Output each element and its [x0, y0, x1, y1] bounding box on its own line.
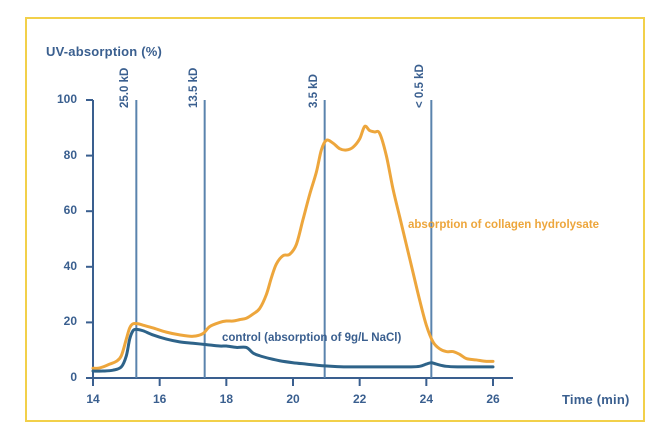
x-tick-label: 24 [406, 392, 446, 406]
y-axis-title: UV-absorption (%) [46, 44, 162, 59]
x-tick-label: 26 [473, 392, 513, 406]
marker-label-2: 3.5 kD [308, 74, 320, 108]
y-tick-label: 80 [45, 148, 77, 162]
series-label-control: control (absorption of 9g/L NaCl) [222, 332, 401, 344]
chart-figure: UV-absorption (%) Time (min) 02040608010… [0, 0, 662, 444]
x-tick-label: 16 [140, 392, 180, 406]
x-tick-label: 14 [73, 392, 113, 406]
x-tick-label: 22 [340, 392, 380, 406]
y-tick-label: 40 [45, 259, 77, 273]
series-label-collagen-hydrolysate: absorption of collagen hydrolysate [408, 219, 599, 231]
y-tick-label: 60 [45, 203, 77, 217]
marker-label-0: 25.0 kD [119, 68, 131, 108]
y-tick-label: 20 [45, 314, 77, 328]
x-axis-title: Time (min) [562, 392, 630, 407]
x-tick-label: 18 [206, 392, 246, 406]
marker-label-3: < 0.5 kD [414, 64, 426, 108]
y-tick-label: 0 [45, 370, 77, 384]
x-tick-label: 20 [273, 392, 313, 406]
y-tick-label: 100 [45, 92, 77, 106]
marker-label-1: 13.5 kD [188, 68, 200, 108]
